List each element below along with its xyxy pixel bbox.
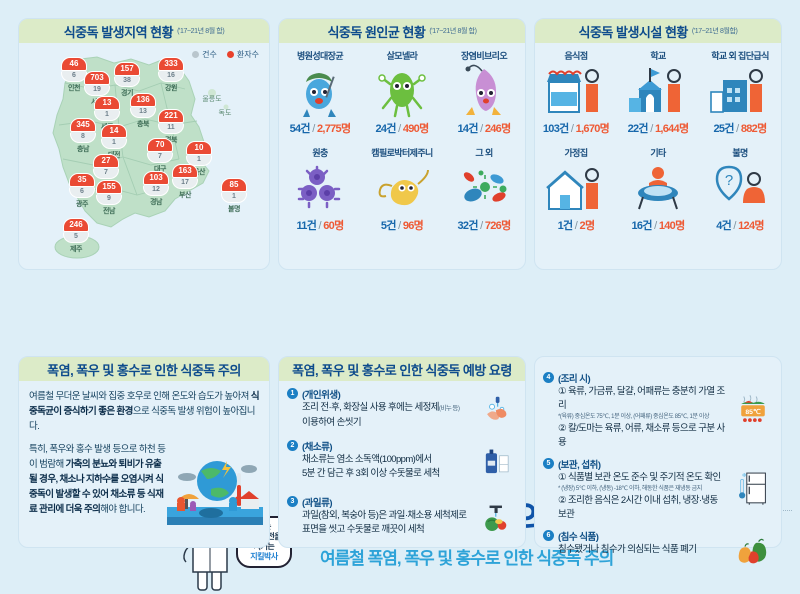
marker-cases: 11 bbox=[158, 123, 184, 134]
map-marker[interactable]: 1559전남 bbox=[96, 180, 122, 216]
map-panel-title: 식중독 발생지역 현황 bbox=[64, 22, 173, 41]
marker-cases: 7 bbox=[147, 152, 173, 163]
tip-line: 표면을 씻고 수돗물로 깨끗이 세척 bbox=[302, 523, 471, 537]
tip-body: (침수 식품)침수됐거나 침수가 의심되는 식품 폐기 bbox=[558, 529, 727, 576]
stat-patients: 1,670명 bbox=[576, 123, 609, 135]
stat-cell: 원충11건 / 60명 bbox=[279, 142, 361, 237]
tip-note: *(육류) 중심온도 75℃, 1분 이상, (어패류) 중심온도 85℃, 1… bbox=[558, 413, 727, 422]
map-marker[interactable]: 3458충남 bbox=[70, 118, 96, 154]
salmonella-character-icon bbox=[362, 62, 442, 120]
prevention-tips-panel-2: 4(조리 시)① 육류, 가금류, 달걀, 어패류는 충분히 가열 조리*(육류… bbox=[534, 356, 782, 548]
pathogen-grid: 병원성대장균54건 / 2,775명살모넬라24건 / 490명장염비브리오14… bbox=[279, 45, 525, 237]
tip-number: 1 bbox=[287, 388, 298, 399]
stat-value: 1건 / 2명 bbox=[536, 217, 616, 233]
tip-line: ① 식품별 보관 온도 준수 및 주기적 온도 확인 bbox=[558, 471, 727, 485]
stat-patients: 140명 bbox=[659, 220, 685, 232]
marker-patients: 345 bbox=[70, 118, 96, 132]
stat-value: 25건 / 882명 bbox=[700, 120, 780, 136]
tip-number: 6 bbox=[543, 530, 554, 541]
stat-label: 병원성대장균 bbox=[280, 49, 360, 62]
stat-patients: 2명 bbox=[580, 220, 595, 232]
facility-grid: 음식점103건 / 1,670명학교22건 / 1,644명학교 외 집단급식2… bbox=[535, 45, 781, 237]
ecoli-character-icon bbox=[280, 62, 360, 120]
pathogen-panel: 식중독 원인균 현황 ('17~21년 8월 합) 병원성대장균54건 / 2,… bbox=[278, 18, 526, 270]
tip-line: 과일(참외, 복숭아 등)은 과일·채소용 세척제로 bbox=[302, 509, 471, 523]
marker-region-name: 강원 bbox=[158, 83, 184, 93]
disinfectant-bottle-icon bbox=[475, 439, 519, 488]
infographic-page: 식중독 발생지역 현황 ('17~21년 8월 합) 건수 환자수 bbox=[0, 0, 800, 565]
marker-patients: 163 bbox=[172, 164, 198, 178]
stat-cases: 103건 bbox=[543, 123, 569, 135]
stat-value: 16건 / 140명 bbox=[618, 217, 698, 233]
stat-cases: 16건 bbox=[631, 220, 651, 232]
stat-cases: 4건 bbox=[716, 220, 731, 232]
stat-cases: 5건 bbox=[381, 220, 396, 232]
stat-label: 가정집 bbox=[536, 146, 616, 159]
tip-heading: (보관, 섭취) bbox=[558, 457, 727, 471]
protozoa-icon bbox=[280, 159, 360, 217]
warning-panel-title: 폭염, 폭우 및 홍수로 인한 식중독 주의 bbox=[47, 360, 241, 379]
tip-body: (개인위생)조리 전·후, 화장실 사용 후에는 세정제(비누 등)이용하여 손… bbox=[302, 387, 471, 432]
warning-panel: 폭염, 폭우 및 홍수로 인한 식중독 주의 여름철 무더운 날씨와 집중 호우… bbox=[18, 356, 270, 548]
stat-label: 학교 외 집단급식 bbox=[700, 49, 780, 62]
tip-heading: (과일류) bbox=[302, 495, 471, 509]
cafeteria-building-icon bbox=[700, 62, 780, 120]
stat-label: 불명 bbox=[700, 146, 780, 159]
stat-label: 장염비브리오 bbox=[444, 49, 524, 62]
stat-cell: 학교22건 / 1,644명 bbox=[617, 45, 699, 140]
tip-item: 4(조리 시)① 육류, 가금류, 달걀, 어패류는 충분히 가열 조리*(육류… bbox=[543, 371, 775, 450]
stat-cell: 그 외32건 / 726명 bbox=[443, 142, 525, 237]
stat-value: 11건 / 60명 bbox=[280, 217, 360, 233]
marker-cases: 8 bbox=[70, 132, 96, 143]
stat-cases: 24건 bbox=[375, 123, 395, 135]
marker-region-name: 광주 bbox=[69, 199, 95, 209]
marker-patients: 703 bbox=[84, 71, 110, 85]
stat-cell: 기타16건 / 140명 bbox=[617, 142, 699, 237]
tip-body: (채소류)채소류는 염소 소독액(100ppm)에서5분 간 담근 후 3회 이… bbox=[302, 439, 471, 488]
marker-cases: 9 bbox=[96, 194, 122, 205]
marker-cases: 13 bbox=[130, 107, 156, 118]
map-marker[interactable]: 33316강원 bbox=[158, 57, 184, 93]
stat-cell: 가정집1건 / 2명 bbox=[535, 142, 617, 237]
stat-cases: 25건 bbox=[713, 123, 733, 135]
tip-number: 2 bbox=[287, 440, 298, 451]
stat-label: 그 외 bbox=[444, 146, 524, 159]
marker-patients: 103 bbox=[143, 171, 169, 185]
stat-cell: 병원성대장균54건 / 2,775명 bbox=[279, 45, 361, 140]
marker-patients: 46 bbox=[61, 57, 87, 71]
warning-p1-a: 여름철 무더운 날씨와 집중 호우로 인해 온도와 습도가 높아져 bbox=[29, 391, 251, 402]
map-marker[interactable]: 851불명 bbox=[221, 178, 247, 214]
stat-patients: 60명 bbox=[323, 220, 343, 232]
svg-text:❄: ❄ bbox=[742, 472, 747, 479]
etc-icon bbox=[618, 159, 698, 217]
marker-patients: 155 bbox=[96, 180, 122, 194]
tip-note: * (냉장) 5℃ 이하, (냉동) -18℃ 이하, 해동한 식품은 재냉동 … bbox=[558, 485, 727, 494]
stat-separator: / bbox=[652, 220, 659, 232]
korea-map: 466인천70319서울15738경기33316강원131세종13613충북34… bbox=[19, 41, 271, 271]
korea-map-shape-icon bbox=[19, 41, 271, 271]
tip-line: 이용하여 손씻기 bbox=[302, 416, 471, 430]
tip-body: (보관, 섭취)① 식품별 보관 온도 준수 및 주기적 온도 확인* (냉장)… bbox=[558, 457, 727, 522]
tip-heading: (개인위생) bbox=[302, 387, 471, 401]
warning-paragraph-2: 특히, 폭우와 홍수 발생 등으로 하천 등이 범람해 가축의 분뇨와 퇴비가 … bbox=[29, 442, 169, 517]
bubble-dr-line4: 지킬박사 bbox=[243, 552, 285, 562]
stat-patients: 490명 bbox=[403, 123, 429, 135]
marker-patients: 27 bbox=[93, 154, 119, 168]
tip-item: 3(과일류)과일(참외, 복숭아 등)은 과일·채소용 세척제로표면을 씻고 수… bbox=[287, 495, 519, 544]
campylobacter-icon bbox=[362, 159, 442, 217]
marker-region-name: 불명 bbox=[221, 204, 247, 214]
marker-patients: 157 bbox=[114, 62, 140, 76]
map-marker[interactable]: 13613충북 bbox=[130, 93, 156, 129]
stat-separator: / bbox=[396, 220, 403, 232]
flood-earth-illustration-icon bbox=[167, 455, 263, 527]
facility-panel-title: 식중독 발생시설 현황 bbox=[579, 22, 688, 41]
stat-value: 22건 / 1,644명 bbox=[618, 120, 698, 136]
stat-cell: 학교 외 집단급식25건 / 882명 bbox=[699, 45, 781, 140]
stat-patients: 2,775명 bbox=[317, 123, 350, 135]
stat-label: 캠필로박터제주니 bbox=[362, 146, 442, 159]
tip-line: ② 칼/도마는 육류, 어류, 채소류 등으로 구분 사용 bbox=[558, 422, 727, 450]
stat-label: 음식점 bbox=[536, 49, 616, 62]
marker-region-name: 전남 bbox=[96, 206, 122, 216]
stat-cases: 22건 bbox=[628, 123, 648, 135]
marker-cases: 5 bbox=[63, 232, 89, 243]
stat-patients: 1,644명 bbox=[655, 123, 688, 135]
island-label: 울릉도 bbox=[202, 94, 221, 104]
map-marker[interactable]: 356광주 bbox=[69, 173, 95, 209]
marker-patients: 85 bbox=[221, 178, 247, 192]
marker-cases: 19 bbox=[84, 85, 110, 96]
vibrio-character-icon bbox=[444, 62, 524, 120]
stat-separator: / bbox=[396, 123, 403, 135]
tip-line: 조리 전·후, 화장실 사용 후에는 세정제(비누 등) bbox=[302, 401, 471, 416]
restaurant-icon bbox=[536, 62, 616, 120]
tip-item: 6(침수 식품)침수됐거나 침수가 의심되는 식품 폐기 bbox=[543, 529, 775, 576]
stat-cases: 14건 bbox=[457, 123, 477, 135]
marker-patients: 14 bbox=[101, 124, 127, 138]
pathogen-panel-header: 식중독 원인균 현황 ('17~21년 8월 합) bbox=[279, 19, 525, 43]
tip-heading: (조리 시) bbox=[558, 371, 727, 385]
tips-panel-header: 폭염, 폭우 및 홍수로 인한 식중독 예방 요령 bbox=[279, 357, 525, 381]
stat-separator: / bbox=[310, 123, 317, 135]
tip-body: (조리 시)① 육류, 가금류, 달걀, 어패류는 충분히 가열 조리*(육류)… bbox=[558, 371, 727, 450]
tips-list-right: 4(조리 시)① 육류, 가금류, 달걀, 어패류는 충분히 가열 조리*(육류… bbox=[543, 371, 775, 583]
tip-line: 5분 간 담근 후 3회 이상 수돗물로 세척 bbox=[302, 467, 471, 481]
marker-cases: 1 bbox=[101, 138, 127, 149]
tip-item: 5(보관, 섭취)① 식품별 보관 온도 준수 및 주기적 온도 확인* (냉장… bbox=[543, 457, 775, 522]
stat-value: 24건 / 490명 bbox=[362, 120, 442, 136]
warning-panel-header: 폭염, 폭우 및 홍수로 인한 식중독 주의 bbox=[19, 357, 269, 381]
tip-line: 채소류는 염소 소독액(100ppm)에서 bbox=[302, 453, 471, 467]
marker-cases: 12 bbox=[143, 185, 169, 196]
facility-panel-header: 식중독 발생시설 현황 ('17~21년 8월합) bbox=[535, 19, 781, 43]
stat-value: 103건 / 1,670명 bbox=[536, 120, 616, 136]
marker-region-name: 충남 bbox=[70, 144, 96, 154]
stat-separator: / bbox=[648, 123, 655, 135]
tip-inline-note: (비누 등) bbox=[439, 405, 459, 412]
pathogen-panel-period: ('17~21년 8월 합) bbox=[429, 26, 476, 36]
tip-heading: (침수 식품) bbox=[558, 529, 727, 543]
marker-patients: 70 bbox=[147, 138, 173, 152]
stat-cell: 살모넬라24건 / 490명 bbox=[361, 45, 443, 140]
stat-cases: 1건 bbox=[558, 220, 573, 232]
warning-p2-c: 해야 합니다. bbox=[100, 504, 145, 515]
title-band: 식중독! 멈춰! 나는 식품안전을 지키는 지킬박사 8월 식중독 주의 정보 … bbox=[0, 244, 800, 352]
tip-number: 4 bbox=[543, 372, 554, 383]
stat-patients: 96명 bbox=[403, 220, 423, 232]
refrigerator-icon: ❄ bbox=[731, 457, 775, 522]
marker-patients: 10 bbox=[186, 141, 212, 155]
stat-value: 5건 / 96명 bbox=[362, 217, 442, 233]
stat-value: 32건 / 726명 bbox=[444, 217, 524, 233]
tip-line: ① 육류, 가금류, 달걀, 어패류는 충분히 가열 조리 bbox=[558, 385, 727, 413]
stat-cases: 54건 bbox=[290, 123, 310, 135]
marker-cases: 1 bbox=[94, 110, 120, 121]
svg-text:85℃: 85℃ bbox=[745, 408, 761, 416]
handwash-icon bbox=[475, 387, 519, 432]
marker-cases: 1 bbox=[221, 192, 247, 203]
tip-line: ② 조리한 음식은 2시간 이내 섭취, 냉장·냉동 보관 bbox=[558, 494, 727, 522]
map-marker[interactable]: 10312경남 bbox=[143, 171, 169, 207]
tip-item: 1(개인위생)조리 전·후, 화장실 사용 후에는 세정제(비누 등)이용하여 … bbox=[287, 387, 519, 432]
stat-cases: 32건 bbox=[457, 220, 477, 232]
map-panel-period: ('17~21년 8월 합) bbox=[177, 26, 224, 36]
facility-panel: 식중독 발생시설 현황 ('17~21년 8월합) 음식점103건 / 1,67… bbox=[534, 18, 782, 270]
stat-cell: 캠필로박터제주니5건 / 96명 bbox=[361, 142, 443, 237]
tips-panel-title: 폭염, 폭우 및 홍수로 인한 식중독 예방 요령 bbox=[292, 360, 512, 379]
stat-value: 4건 / 124명 bbox=[700, 217, 780, 233]
stat-separator: / bbox=[734, 123, 741, 135]
stat-patients: 246명 bbox=[485, 123, 511, 135]
other-germs-icon bbox=[444, 159, 524, 217]
marker-region-name: 경남 bbox=[143, 197, 169, 207]
marker-region-name: 충북 bbox=[130, 119, 156, 129]
pathogen-panel-title: 식중독 원인균 현황 bbox=[327, 22, 425, 41]
tip-body: (과일류)과일(참외, 복숭아 등)은 과일·채소용 세척제로표면을 씻고 수돗… bbox=[302, 495, 471, 544]
marker-patients: 136 bbox=[130, 93, 156, 107]
marker-patients: 13 bbox=[94, 96, 120, 110]
peppers-icon bbox=[731, 529, 775, 576]
marker-cases: 38 bbox=[114, 76, 140, 87]
stat-cases: 11건 bbox=[297, 220, 317, 232]
stat-separator: / bbox=[572, 220, 579, 232]
stat-label: 학교 bbox=[618, 49, 698, 62]
marker-region-name: 부산 bbox=[172, 190, 198, 200]
map-panel-header: 식중독 발생지역 현황 ('17~21년 8월 합) bbox=[19, 19, 269, 43]
stat-patients: 882명 bbox=[741, 123, 767, 135]
tip-number: 3 bbox=[287, 496, 298, 507]
map-panel: 식중독 발생지역 현황 ('17~21년 8월 합) 건수 환자수 bbox=[18, 18, 270, 270]
stat-separator: / bbox=[569, 123, 576, 135]
prevention-tips-panel: 폭염, 폭우 및 홍수로 인한 식중독 예방 요령 1(개인위생)조리 전·후,… bbox=[278, 356, 526, 548]
unknown-pin-icon: ? bbox=[700, 159, 780, 217]
school-icon bbox=[618, 62, 698, 120]
facility-panel-period: ('17~21년 8월합) bbox=[692, 26, 738, 36]
stat-cell: 장염비브리오14건 / 246명 bbox=[443, 45, 525, 140]
marker-cases: 17 bbox=[172, 178, 198, 189]
stat-patients: 124명 bbox=[738, 220, 764, 232]
marker-cases: 7 bbox=[93, 168, 119, 179]
stat-cell: 음식점103건 / 1,670명 bbox=[535, 45, 617, 140]
map-marker[interactable]: 16317부산 bbox=[172, 164, 198, 200]
tip-number: 5 bbox=[543, 458, 554, 469]
tip-item: 2(채소류)채소류는 염소 소독액(100ppm)에서5분 간 담근 후 3회 … bbox=[287, 439, 519, 488]
marker-cases: 6 bbox=[69, 187, 95, 198]
map-marker[interactable]: 707대구 bbox=[147, 138, 173, 174]
stat-cell: 불명?4건 / 124명 bbox=[699, 142, 781, 237]
stat-label: 기타 bbox=[618, 146, 698, 159]
svg-text:?: ? bbox=[725, 172, 733, 189]
island-label: 독도 bbox=[219, 108, 232, 118]
marker-patients: 246 bbox=[63, 218, 89, 232]
marker-patients: 35 bbox=[69, 173, 95, 187]
marker-patients: 333 bbox=[158, 57, 184, 71]
house-icon bbox=[536, 159, 616, 217]
stat-label: 원충 bbox=[280, 146, 360, 159]
hot-pot-85c-icon: 85℃ bbox=[731, 371, 775, 450]
stat-separator: / bbox=[478, 123, 485, 135]
fruit-wash-icon bbox=[475, 495, 519, 544]
marker-patients: 221 bbox=[158, 109, 184, 123]
tip-line: 침수됐거나 침수가 의심되는 식품 폐기 bbox=[558, 543, 727, 557]
stat-patients: 726명 bbox=[485, 220, 511, 232]
marker-cases: 16 bbox=[158, 71, 184, 82]
stat-value: 14건 / 246명 bbox=[444, 120, 524, 136]
tips-list-left: 1(개인위생)조리 전·후, 화장실 사용 후에는 세정제(비누 등)이용하여 … bbox=[287, 387, 519, 551]
stat-label: 살모넬라 bbox=[362, 49, 442, 62]
stat-value: 54건 / 2,775명 bbox=[280, 120, 360, 136]
stat-separator: / bbox=[478, 220, 485, 232]
tip-heading: (채소류) bbox=[302, 439, 471, 453]
